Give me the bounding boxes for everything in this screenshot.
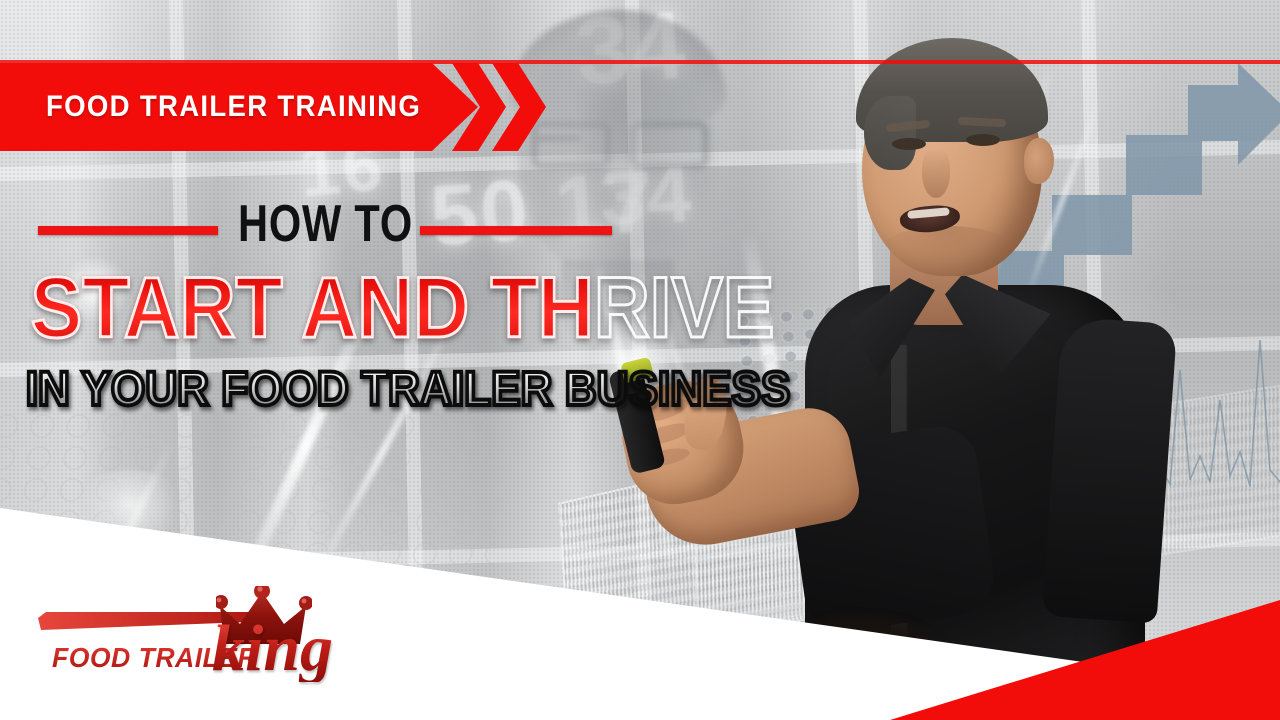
logo-script-word: king [212, 616, 333, 682]
presenter-photo [600, 30, 1160, 690]
eyebrow-rule-right [420, 226, 612, 235]
headline-text: START AND THRIVE [0, 260, 594, 356]
presenter-eye [966, 134, 1000, 146]
presenter-eye [892, 138, 926, 150]
presenter-ear [1024, 138, 1054, 184]
presenter-sleeve [1042, 316, 1178, 623]
banner-bar: FOOD TRAILER TRAINING [0, 63, 478, 151]
brand-logo[interactable]: FOOD TRAILER king [38, 588, 338, 692]
eyebrow-row: HOW TO [0, 196, 660, 258]
subheadline-text: IN YOUR FOOD TRAILER BUSINESS [0, 362, 607, 418]
presenter-nose [922, 148, 950, 198]
eyebrow-rule-left [38, 226, 218, 235]
presenter-hair [856, 38, 1048, 142]
training-banner: FOOD TRAILER TRAINING [0, 63, 540, 151]
video-thumbnail: 34 16 50 17 34 [0, 0, 1280, 720]
presenter-chin-shadow [878, 226, 1018, 280]
eyebrow-text: HOW TO [238, 196, 413, 252]
title-block: HOW TO START AND THRIVE IN YOUR FOOD TRA… [0, 196, 660, 418]
banner-label: FOOD TRAILER TRAINING [0, 90, 421, 124]
